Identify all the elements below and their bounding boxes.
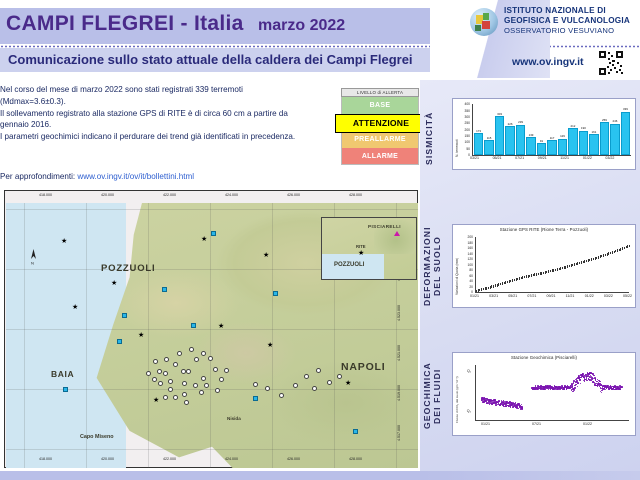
map-xtick-bottom: 420.000 — [101, 457, 114, 461]
chart1-ytick: 100 — [453, 140, 470, 144]
data-point-co2-flux — [620, 389, 622, 391]
marker-earthquake-event[interactable] — [224, 368, 229, 373]
chart2-xtick: 03/22 — [604, 294, 613, 298]
chart1-ytick: 400 — [453, 102, 470, 106]
bar-value-label: 239 — [514, 120, 526, 124]
bar-seismicity[interactable] — [610, 124, 620, 155]
marker-earthquake-event[interactable] — [304, 374, 309, 379]
bar-value-label: 303 — [493, 112, 505, 116]
page-subtitle: Comunicazione sullo stato attuale della … — [8, 52, 413, 67]
chart3-title: Stazione Geochimica (Pisciarelli) — [453, 355, 635, 360]
data-point-co2-flux — [574, 390, 576, 392]
institute-name-block: ISTITUTO NAZIONALE DI GEOFISICA E VULCAN… — [504, 6, 630, 36]
intro-text-block: Nel corso del mese di marzo 2022 sono st… — [0, 84, 330, 143]
marker-gps-station[interactable]: ★ — [345, 381, 351, 387]
institute-branding: ISTITUTO NAZIONALE DI GEOFISICA E VULCAN… — [470, 6, 640, 46]
chart3-xtick: 07/21 — [532, 422, 541, 426]
footer-strip — [0, 471, 640, 480]
map-label-capo-miseno: Capo Miseno — [80, 434, 114, 440]
data-point-co2-flux — [517, 408, 519, 410]
marker-earthquake-event[interactable] — [213, 367, 218, 372]
marker-earthquake-event[interactable] — [152, 377, 157, 382]
map-inset-pozzuoli[interactable]: PISCIARELLI RITE ★ POZZUOLI — [321, 217, 417, 280]
chart3-ytick: Q₁ — [461, 369, 471, 373]
map-ytick: 4.517.000 — [397, 425, 401, 441]
section-label-seismicity: SISMICITÀ — [424, 98, 434, 178]
marker-earthquake-event[interactable] — [201, 376, 206, 381]
chart1-ytick: 200 — [453, 128, 470, 132]
institute-line-3: OSSERVATORIO VESUVIANO — [504, 26, 630, 36]
map-label-nisida: Nisida — [227, 416, 241, 421]
chart2-xtick: 11/21 — [566, 294, 575, 298]
bar-value-label: 161 — [588, 130, 600, 134]
chart1-xtick: 03/22 — [605, 156, 614, 160]
chart2-xtick: 01/22 — [585, 294, 594, 298]
bar-seismicity[interactable] — [537, 143, 547, 155]
marker-earthquake-event[interactable] — [158, 381, 163, 386]
page-header: CAMPI FLEGREI - Italia marzo 2022 Comuni… — [0, 0, 640, 78]
data-point-deformation — [629, 245, 630, 248]
map-xtick-bottom: 422.000 — [163, 457, 176, 461]
chart2-ytick: 60 — [455, 274, 473, 278]
chart3-ytick: Q₂ — [461, 409, 471, 413]
marker-seismic-station[interactable] — [117, 339, 122, 344]
marker-earthquake-event[interactable] — [153, 359, 158, 364]
chart2-xtick: 05/21 — [508, 294, 517, 298]
marker-gps-station[interactable]: ★ — [138, 333, 144, 339]
marker-earthquake-event[interactable] — [163, 371, 168, 376]
marker-earthquake-event[interactable] — [279, 393, 284, 398]
bar-value-label: 246 — [609, 119, 621, 123]
chart2-ytick: 160 — [455, 246, 473, 250]
svg-text:N: N — [31, 261, 34, 266]
map-ytick: 4.523.000 — [397, 305, 401, 321]
chart1-xtick: 01/22 — [583, 156, 592, 160]
chart1-xtick: 05/21 — [493, 156, 502, 160]
data-point-co2-flux — [584, 380, 586, 382]
map-xtick-top: 422.000 — [163, 193, 176, 197]
alert-level-attenzione-current[interactable]: ATTENZIONE — [335, 114, 427, 133]
marker-earthquake-event[interactable] — [168, 379, 173, 384]
marker-earthquake-event[interactable] — [293, 383, 298, 388]
section-label-geochemistry: GEOCHIMICA DEI FLUIDI — [422, 350, 442, 442]
marker-seismic-station[interactable] — [353, 429, 358, 434]
map-xtick-bottom: 424.000 — [225, 457, 238, 461]
marker-seismic-station[interactable] — [63, 387, 68, 392]
bar-seismicity[interactable] — [558, 139, 568, 155]
marker-seismic-station[interactable] — [273, 291, 278, 296]
bar-value-label: 129 — [556, 134, 568, 138]
map-ytick: 4.521.000 — [397, 345, 401, 361]
bollettini-link[interactable]: www.ov.ingv.it/ov/it/bollettini.html — [77, 172, 194, 181]
intro-line-1: Nel corso del mese di marzo 2022 sono st… — [0, 84, 330, 96]
inset-label-pozzuoli: POZZUOLI — [334, 262, 364, 268]
chart-geochemistry-scatter[interactable]: Stazione Geochimica (Pisciarelli) Flusso… — [452, 352, 636, 436]
bar-seismicity[interactable] — [547, 140, 557, 155]
inset-label-pisciarelli: PISCIARELLI — [368, 224, 401, 229]
institute-line-2: GEOFISICA E VULCANOLOGIA — [504, 16, 630, 26]
chart1-ytick: 250 — [453, 121, 470, 125]
marker-gps-station[interactable]: ★ — [153, 398, 159, 404]
bar-seismicity[interactable] — [516, 125, 526, 155]
marker-earthquake-event[interactable] — [181, 369, 186, 374]
marker-seismic-station[interactable] — [211, 231, 216, 236]
map-label-pozzuoli: POZZUOLI — [101, 263, 155, 274]
data-point-co2-flux — [578, 383, 580, 385]
chart2-xtick: 09/21 — [547, 294, 556, 298]
map-xtick-top: 424.000 — [225, 193, 238, 197]
alert-level-preallarme[interactable]: PREALLARME — [341, 131, 419, 148]
bar-value-label: 115 — [483, 136, 495, 140]
section-label-deformation: DEFORMAZIONI DEL SUOLO — [422, 220, 442, 312]
bar-seismicity[interactable] — [505, 126, 515, 155]
chart3-xtick: 01/22 — [583, 422, 592, 426]
map-label-napoli: NAPOLI — [341, 361, 385, 373]
marker-earthquake-event[interactable] — [186, 369, 191, 374]
approfondimenti-label: Per approfondimenti: — [0, 172, 75, 181]
map-xtick-bottom: 426.000 — [287, 457, 300, 461]
data-point-co2-flux — [580, 383, 582, 385]
marker-earthquake-event[interactable] — [204, 383, 209, 388]
bar-seismicity[interactable] — [600, 122, 610, 155]
map-xtick-top: 420.000 — [101, 193, 114, 197]
data-point-co2-flux — [593, 375, 595, 377]
map-xtick-top: 426.000 — [287, 193, 300, 197]
map-label-baia: BAIA — [51, 369, 74, 379]
chart2-xtick: 05/22 — [623, 294, 632, 298]
map-xtick-bottom: 418.000 — [39, 457, 52, 461]
north-arrow-icon: N — [30, 249, 36, 263]
bar-seismicity[interactable] — [484, 140, 494, 155]
marker-gps-station[interactable]: ★ — [218, 324, 224, 330]
marker-gps-station[interactable]: ★ — [201, 237, 207, 243]
chart1-ytick: 350 — [453, 109, 470, 113]
institute-line-1: ISTITUTO NAZIONALE DI — [504, 6, 630, 16]
data-point-co2-flux — [586, 377, 588, 379]
marker-gps-station-rite[interactable]: ★ — [358, 251, 364, 257]
chart1-ytick: 300 — [453, 115, 470, 119]
chart2-ytick: 80 — [455, 268, 473, 272]
data-point-co2-flux — [621, 386, 623, 388]
data-point-co2-flux — [510, 406, 512, 408]
marker-earthquake-event[interactable] — [173, 362, 178, 367]
marker-seismic-station[interactable] — [191, 323, 196, 328]
chart2-ytick: 180 — [455, 241, 473, 245]
chart2-ytick: 200 — [455, 235, 473, 239]
marker-seismic-station[interactable] — [162, 287, 167, 292]
chart1-ytick: 0 — [453, 153, 470, 157]
map-xtick-top: 428.000 — [349, 193, 362, 197]
chart1-ytick: 150 — [453, 134, 470, 138]
marker-earthquake-event[interactable] — [312, 386, 317, 391]
marker-earthquake-event[interactable] — [337, 374, 342, 379]
qr-code-icon[interactable] — [598, 50, 624, 76]
data-point-co2-flux — [575, 388, 577, 390]
data-point-co2-flux — [577, 386, 579, 388]
bar-seismicity[interactable] — [579, 131, 589, 155]
data-point-co2-flux — [572, 391, 574, 393]
chart2-ytick: 140 — [455, 252, 473, 256]
intro-line-3: Il sollevamento registrato alla stazione… — [0, 108, 330, 120]
chart2-xtick: 03/21 — [489, 294, 498, 298]
marker-gps-station[interactable]: ★ — [72, 305, 78, 311]
chart1-xtick: 07/21 — [515, 156, 524, 160]
site-url-link[interactable]: www.ov.ingv.it — [512, 56, 584, 68]
map-xtick-top: 418.000 — [39, 193, 52, 197]
marker-earthquake-event[interactable] — [215, 388, 220, 393]
marker-gps-station[interactable]: ★ — [111, 281, 117, 287]
marker-geochemical-station-pisciarelli[interactable] — [394, 231, 400, 236]
inset-label-rite: RITE — [356, 244, 366, 249]
alert-level-allarme[interactable]: ALLARME — [341, 148, 419, 165]
alert-level-base[interactable]: BASE — [341, 97, 419, 114]
marker-earthquake-event[interactable] — [146, 371, 151, 376]
chart2-xtick: 07/21 — [527, 294, 536, 298]
bar-value-label: 173 — [473, 129, 485, 133]
marker-earthquake-event[interactable] — [201, 351, 206, 356]
chart2-xtick: 01/21 — [470, 294, 479, 298]
chart3-xtick: 01/21 — [481, 422, 490, 426]
chart2-ytick: 120 — [455, 257, 473, 261]
marker-gps-station[interactable]: ★ — [61, 239, 67, 245]
chart1-xtick: 09/21 — [538, 156, 547, 160]
page-title: CAMPI FLEGREI - Italia — [6, 12, 244, 36]
chart2-ytick: 40 — [455, 279, 473, 283]
chart-deformation-line[interactable]: Stazione GPS RITE (Rione Terra - Pozzuol… — [452, 224, 636, 308]
marker-seismic-station[interactable] — [253, 396, 258, 401]
bar-seismicity[interactable] — [568, 128, 578, 155]
map-xtick-bottom: 428.000 — [349, 457, 362, 461]
chart2-ytick: 20 — [455, 285, 473, 289]
bar-seismicity[interactable] — [589, 134, 599, 155]
map-ytick: 4.519.000 — [397, 385, 401, 401]
intro-line-2: (Mdmax=3.6±0.3). — [0, 96, 330, 108]
data-point-co2-flux — [521, 406, 523, 408]
marker-earthquake-event[interactable] — [177, 351, 182, 356]
alert-level-header: LIVELLO di ALLERTA — [341, 88, 419, 97]
chart1-ytick: 50 — [453, 147, 470, 151]
data-point-co2-flux — [601, 392, 603, 394]
globe-icon — [470, 8, 498, 36]
data-point-co2-flux — [605, 389, 607, 391]
data-point-co2-flux — [522, 408, 524, 410]
data-point-co2-flux — [576, 380, 578, 382]
chart3-ylabel: Flusso di CO₂ dal suolo (gm⁻²d⁻¹) — [455, 365, 459, 423]
bar-value-label: 139 — [525, 133, 537, 137]
chart2-ytick: 100 — [455, 263, 473, 267]
bar-value-label: 339 — [619, 107, 631, 111]
approfondimenti-row: Per approfondimenti: www.ov.ingv.it/ov/i… — [0, 172, 194, 181]
map-campi-flegrei[interactable]: 418.000420.000422.000424.000426.000428.0… — [4, 190, 418, 468]
marker-gps-station[interactable]: ★ — [267, 343, 273, 349]
chart2-title: Stazione GPS RITE (Rione Terra - Pozzuol… — [453, 227, 635, 232]
monitoring-panel: SISMICITÀ DEFORMAZIONI DEL SUOLO GEOCHIM… — [420, 80, 640, 475]
marker-seismic-station[interactable] — [122, 313, 127, 318]
chart-seismicity-bar[interactable]: N. terremoti 173115303226239139911171292… — [452, 98, 636, 170]
page-title-date: marzo 2022 — [258, 17, 345, 35]
chart1-xtick: 03/21 — [470, 156, 479, 160]
bar-seismicity[interactable] — [621, 112, 631, 155]
marker-gps-station[interactable]: ★ — [263, 253, 269, 259]
intro-line-5: I parametri geochimici indicano il perdu… — [0, 131, 330, 143]
intro-line-4: gennaio 2016. — [0, 119, 330, 131]
marker-earthquake-event[interactable] — [189, 347, 194, 352]
chart1-xtick: 11/21 — [560, 156, 569, 160]
